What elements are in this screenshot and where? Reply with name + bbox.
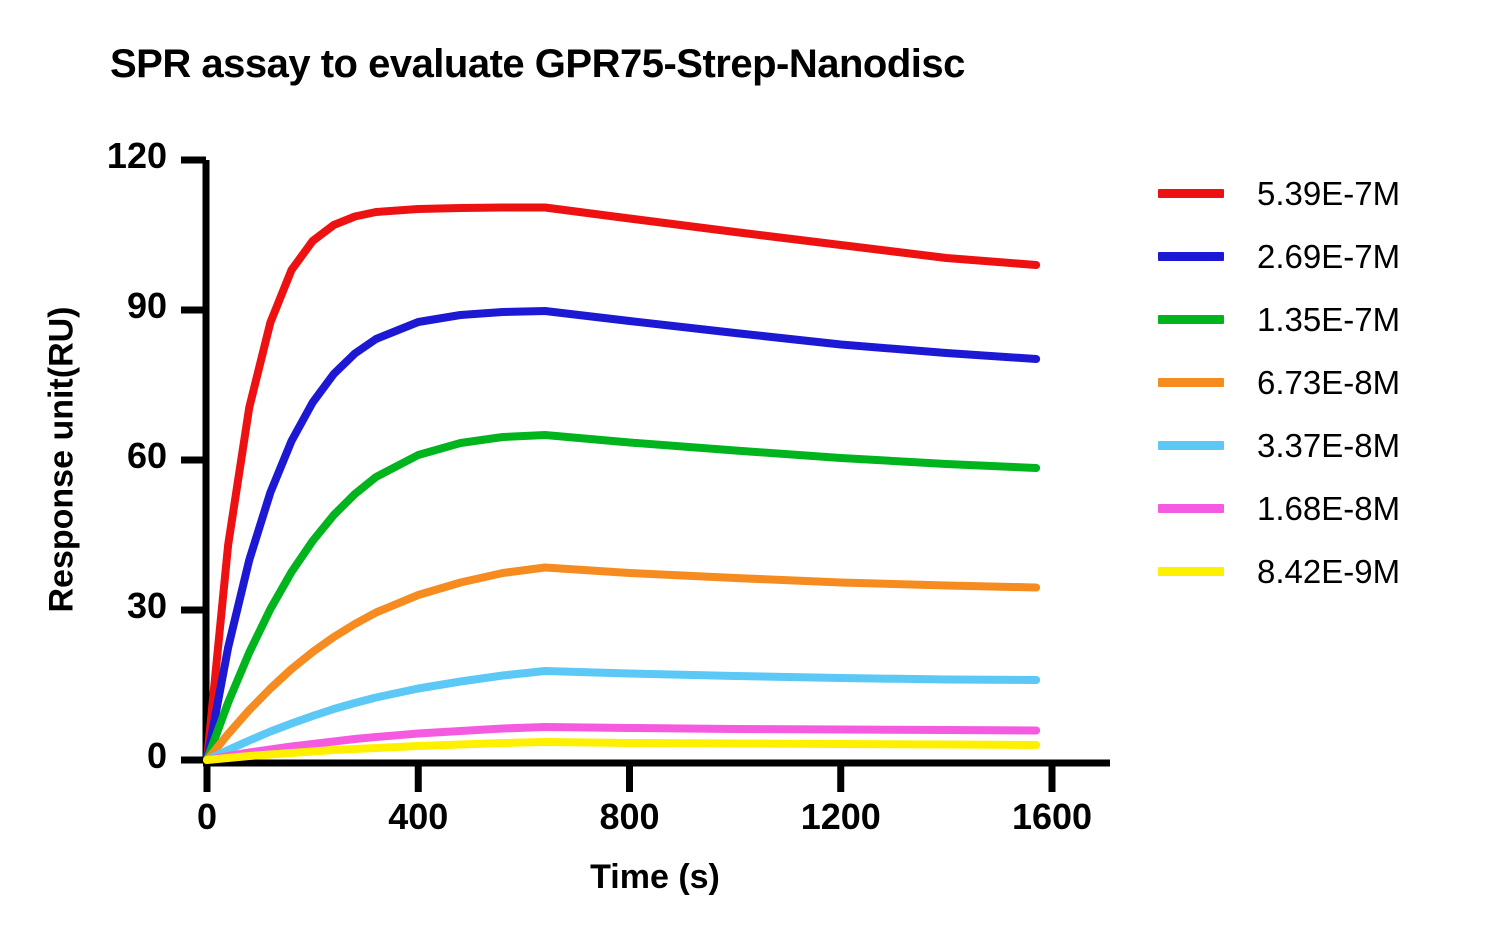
y-tick-label: 60	[57, 435, 167, 477]
spr-chart-figure: SPR assay to evaluate GPR75-Strep-Nanodi…	[0, 0, 1490, 948]
x-tick-label: 400	[358, 796, 478, 838]
legend-color-swatch	[1158, 189, 1224, 198]
legend-item[interactable]: 2.69E-7M	[1158, 225, 1488, 288]
legend-color-swatch	[1158, 504, 1224, 513]
legend-item[interactable]: 6.73E-8M	[1158, 351, 1488, 414]
axes	[181, 160, 1110, 792]
x-tick-label: 800	[570, 796, 690, 838]
legend-color-swatch	[1158, 252, 1224, 261]
series-line-2.69e-7m	[207, 311, 1036, 760]
legend-item[interactable]: 5.39E-7M	[1158, 162, 1488, 225]
legend-label: 6.73E-8M	[1257, 364, 1400, 402]
legend-label: 3.37E-8M	[1257, 427, 1400, 465]
legend-item[interactable]: 1.68E-8M	[1158, 477, 1488, 540]
y-tick-label: 90	[57, 285, 167, 327]
data-series-group	[207, 208, 1036, 761]
legend-item[interactable]: 3.37E-8M	[1158, 414, 1488, 477]
legend: 5.39E-7M2.69E-7M1.35E-7M6.73E-8M3.37E-8M…	[1158, 162, 1488, 603]
x-tick-label: 1600	[992, 796, 1112, 838]
legend-color-swatch	[1158, 378, 1224, 387]
legend-label: 2.69E-7M	[1257, 238, 1400, 276]
legend-label: 5.39E-7M	[1257, 175, 1400, 213]
legend-item[interactable]: 8.42E-9M	[1158, 540, 1488, 603]
y-tick-label: 0	[57, 735, 167, 777]
legend-color-swatch	[1158, 315, 1224, 324]
legend-item[interactable]: 1.35E-7M	[1158, 288, 1488, 351]
legend-color-swatch	[1158, 441, 1224, 450]
x-tick-label: 0	[147, 796, 267, 838]
legend-label: 8.42E-9M	[1257, 553, 1400, 591]
y-tick-label: 120	[57, 135, 167, 177]
x-tick-label: 1200	[781, 796, 901, 838]
legend-color-swatch	[1158, 567, 1224, 576]
y-tick-label: 30	[57, 585, 167, 627]
legend-label: 1.35E-7M	[1257, 301, 1400, 339]
legend-label: 1.68E-8M	[1257, 490, 1400, 528]
